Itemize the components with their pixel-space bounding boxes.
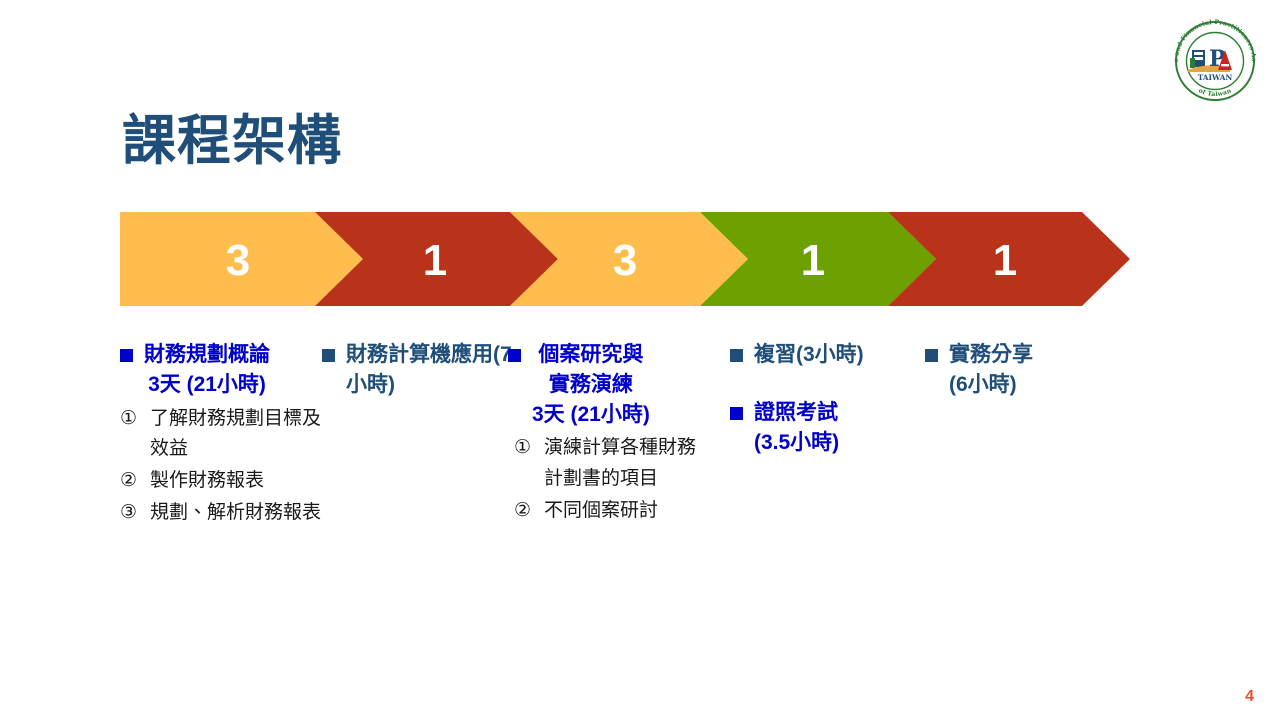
module-heading-text: 實務分享 (6小時) xyxy=(949,340,1033,400)
list-item: ③ 規劃、解析財務報表 xyxy=(120,498,330,529)
module-heading-row: 複習(3小時) xyxy=(730,340,920,370)
course-module-column-3: 個案研究與 實務演練 3天 (21小時) ① 演練計算各種財務計劃書的項目 ② … xyxy=(508,340,708,528)
list-item-text: 了解財務規劃目標及效益 xyxy=(150,404,330,466)
course-module-columns: 財務規劃概論 3天 (21小時) ① 了解財務規劃目標及效益 ② 製作財務報表 … xyxy=(0,340,1280,640)
page-number: 4 xyxy=(1245,688,1254,706)
module-heading-text: 複習(3小時) xyxy=(754,340,864,370)
list-item-marker: ① xyxy=(514,433,544,464)
module-heading-row: 財務規劃概論 3天 (21小時) xyxy=(120,340,330,400)
chevron-label-1: 3 xyxy=(226,236,250,285)
module-item-list: ① 演練計算各種財務計劃書的項目 ② 不同個案研討 xyxy=(514,433,708,526)
square-bullet-icon xyxy=(120,349,133,362)
list-item-marker: ② xyxy=(120,466,150,497)
course-module-column-2: 財務計算機應用(7小時) xyxy=(322,340,512,402)
list-item: ② 不同個案研討 xyxy=(514,496,708,527)
module-item-list: ① 了解財務規劃目標及效益 ② 製作財務報表 ③ 規劃、解析財務報表 xyxy=(120,404,330,529)
square-bullet-icon xyxy=(730,407,743,420)
list-item-marker: ③ xyxy=(120,498,150,529)
module-heading-text: 證照考試 (3.5小時) xyxy=(754,398,839,458)
square-bullet-icon xyxy=(730,349,743,362)
list-item-text: 規劃、解析財務報表 xyxy=(150,498,330,529)
module-heading-text: 財務計算機應用(7小時) xyxy=(346,340,512,400)
list-item: ① 了解財務規劃目標及效益 xyxy=(120,404,330,466)
chevron-label-3: 3 xyxy=(613,236,637,285)
chevron-label-4: 1 xyxy=(801,236,825,285)
course-module-column-4: 複習(3小時) 證照考試 (3.5小時) xyxy=(730,340,920,459)
list-item: ② 製作財務報表 xyxy=(120,466,330,497)
list-item-text: 製作財務報表 xyxy=(150,466,330,497)
module-heading-row: 證照考試 (3.5小時) xyxy=(730,398,920,458)
chevron-label-2: 1 xyxy=(423,236,447,285)
list-item: ① 演練計算各種財務計劃書的項目 xyxy=(514,433,708,495)
module-heading-text: 個案研究與 實務演練 3天 (21小時) xyxy=(532,340,650,429)
square-bullet-icon xyxy=(508,349,521,362)
module-heading-row: 實務分享 (6小時) xyxy=(925,340,1115,400)
list-item-text: 演練計算各種財務計劃書的項目 xyxy=(544,433,708,495)
svg-text:TAIWAN: TAIWAN xyxy=(1198,73,1233,82)
list-item-marker: ② xyxy=(514,496,544,527)
page-title: 課程架構 xyxy=(122,112,342,171)
list-item-text: 不同個案研討 xyxy=(544,496,708,527)
list-item-marker: ① xyxy=(120,404,150,435)
module-heading-row: 個案研究與 實務演練 3天 (21小時) xyxy=(508,340,708,429)
process-chevron-band: 3 1 3 1 1 xyxy=(120,212,1130,306)
ifpa-taiwan-logo: Insurance and Financial Practitioners As… xyxy=(1168,14,1262,108)
course-module-column-5: 實務分享 (6小時) xyxy=(925,340,1115,402)
course-module-column-1: 財務規劃概論 3天 (21小時) ① 了解財務規劃目標及效益 ② 製作財務報表 … xyxy=(120,340,330,530)
chevron-label-5: 1 xyxy=(993,236,1017,285)
spacer xyxy=(730,372,920,398)
square-bullet-icon xyxy=(925,349,938,362)
module-heading-text: 財務規劃概論 3天 (21小時) xyxy=(144,340,270,400)
module-heading-row: 財務計算機應用(7小時) xyxy=(322,340,512,400)
square-bullet-icon xyxy=(322,349,335,362)
